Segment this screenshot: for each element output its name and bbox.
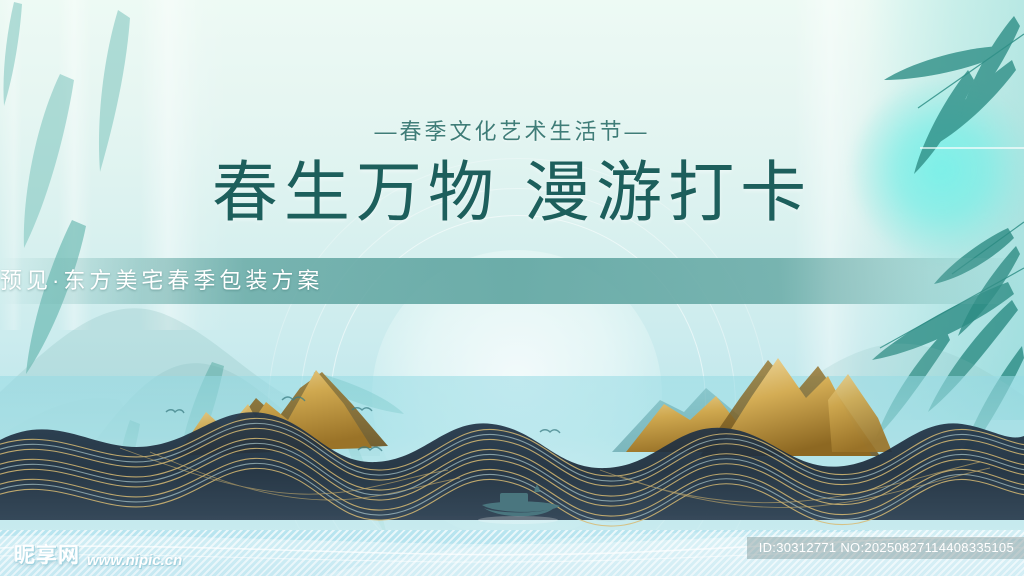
- poster-canvas: —春季文化艺术生活节— 春生万物 漫游打卡 预见·东方美宅春季包装方案 昵享网 …: [0, 0, 1024, 576]
- page-title: 春生万物 漫游打卡: [0, 158, 1024, 228]
- water-sheen: [0, 516, 1024, 520]
- brand-logo-text: 昵享网: [14, 539, 80, 569]
- brand-url-text: www.nipic.cn: [87, 552, 182, 569]
- subtitle-ribbon: 预见·东方美宅春季包装方案: [0, 258, 1024, 304]
- poster-text-block: —春季文化艺术生活节— 春生万物 漫游打卡: [0, 0, 1024, 228]
- event-eyebrow: —春季文化艺术生活节—: [0, 114, 1024, 146]
- image-id-plate: ID:30312771 NO:20250827114408335105: [747, 537, 1024, 559]
- watermark-footer: 昵享网 www.nipic.cn ID:30312771 NO:20250827…: [0, 530, 1024, 576]
- site-brand: 昵享网 www.nipic.cn: [14, 539, 182, 569]
- ribbon-label: 预见·东方美宅春季包装方案: [0, 258, 1024, 304]
